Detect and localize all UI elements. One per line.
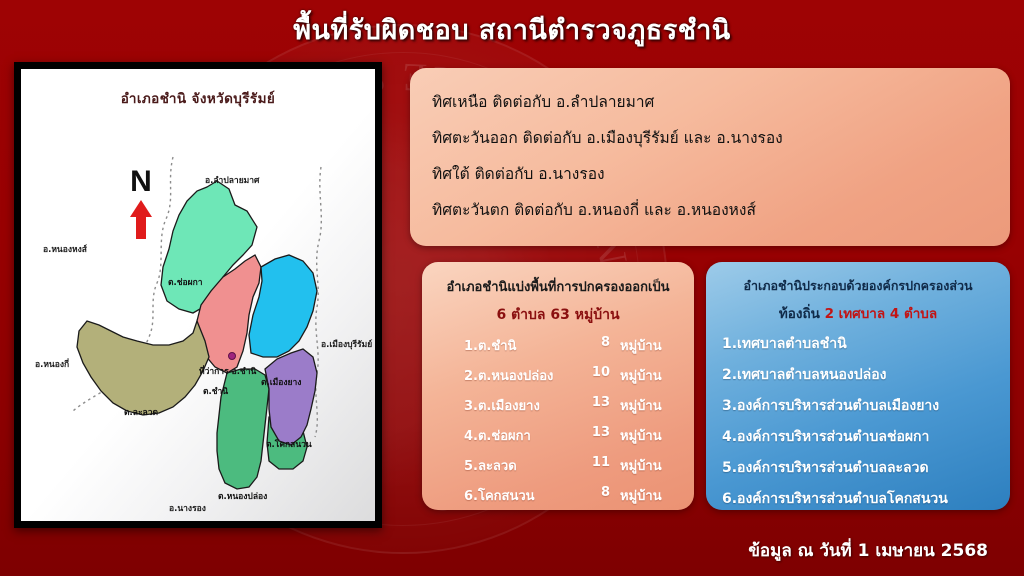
map-canvas: อำเภอชำนิ จังหวัดบุรีรัมย์ N [21,69,375,521]
tambon-row-count: 8 [584,335,610,356]
tambon-summary-card: อำเภอชำนิแบ่งพื้นที่การปกครองออกเป็น 6 ต… [422,262,694,510]
map-label-nongphlong: ต.หนองปล่อง [218,489,267,503]
map-label-neighbor-nongki: อ.หนองกี่ [35,357,69,371]
tambon-row: 4.ต.ช่อผกา 13 หมู่บ้าน [422,425,694,446]
tambon-row: 1.ต.ชำนิ 8 หมู่บ้าน [422,335,694,356]
org-card-header-line1: อำเภอชำนิประกอบด้วยองค์กรปกครองส่วน [706,276,1010,296]
map-label-neighbor-nonghong: อ.หนองหงส์ [43,242,87,256]
district-capital-marker-icon [228,352,236,360]
tambon-row-name: 4.ต.ช่อผกา [464,425,584,446]
tambon-row-unit: หมู่บ้าน [610,425,662,446]
org-row: 2.เทศบาลตำบลหนองปล่อง [706,364,1010,386]
tambon-row-name: 5.ละลวด [464,455,584,476]
region-lalaut [77,321,209,415]
tambon-row-name: 3.ต.เมืองยาง [464,395,584,416]
org-row: 1.เทศบาลตำบลชำนิ [706,333,1010,355]
page-title: พื้นที่รับผิดชอบ สถานีตำรวจภูธรชำนิ [293,8,730,51]
direction-line-south: ทิศใต้ ติดต่อกับ อ.นางรอง [432,156,1010,192]
directions-card: ทิศเหนือ ติดต่อกับ อ.ลำปลายมาศ ทิศตะวันอ… [410,68,1010,246]
direction-line-east: ทิศตะวันออก ติดต่อกับ อ.เมืองบุรีรัมย์ แ… [432,120,1010,156]
tambon-row-unit: หมู่บ้าน [610,485,662,506]
org-card-header-local: ท้องถิ่น [779,306,820,322]
tambon-row-name: 1.ต.ชำนิ [464,335,584,356]
map-label-lalaut: ต.ละลวด [124,405,158,419]
map-label-khoksanuan: ต.โคกสนวน [266,437,312,451]
tambon-row: 3.ต.เมืองยาง 13 หมู่บ้าน [422,395,694,416]
tambon-row-unit: หมู่บ้าน [610,455,662,476]
tambon-row-name: 2.ต.หนองปล่อง [464,365,584,386]
tambon-row: 6.โคกสนวน 8 หมู่บ้าน [422,485,694,506]
tambon-row-count: 13 [584,395,610,416]
boundary-dotted-east [315,167,321,437]
org-card-header-line2: ท้องถิ่น 2 เทศบาล 4 ตำบล [706,302,1010,324]
org-card-header-counts: 2 เทศบาล 4 ตำบล [825,306,938,322]
org-row: 4.องค์การบริหารส่วนตำบลช่อผกา [706,426,1010,448]
org-row: 5.องค์การบริหารส่วนตำบลละลวด [706,457,1010,479]
tambon-row-count: 13 [584,425,610,446]
tambon-row: 2.ต.หนองปล่อง 10 หมู่บ้าน [422,365,694,386]
tambon-row-name: 6.โคกสนวน [464,485,584,506]
tambon-row-unit: หมู่บ้าน [610,335,662,356]
map-label-neighbor-nangrong: อ.นางรอง [169,501,206,515]
tambon-row: 5.ละลวด 11 หมู่บ้าน [422,455,694,476]
org-row: 6.องค์การบริหารส่วนตำบลโคกสนวน [706,488,1010,510]
org-row: 3.องค์การบริหารส่วนตำบลเมืองยาง [706,395,1010,417]
local-government-card: อำเภอชำนิประกอบด้วยองค์กรปกครองส่วน ท้อง… [706,262,1010,510]
map-label-neighbor-lamplaimat: อ.ลำปลายมาศ [205,173,259,187]
map-label-chophaka: ต.ช่อผกา [168,275,203,289]
map-label-chamni: ต.ชำนิ [203,384,228,398]
map-label-neighbor-mueangburiram: อ.เมืองบุรีรัมย์ [321,337,372,351]
map-label-mueangyang: ต.เมืองยาง [261,375,301,389]
tambon-row-count: 10 [584,365,610,386]
region-khoksanuan [265,349,317,445]
slide-root: CHAMNI PROVINCIAL POLICE STATION สถานี พ… [0,0,1024,576]
tambon-row-unit: หมู่บ้าน [610,365,662,386]
map-label-district-capital: ที่ว่าการ อ.ชำนิ [199,364,256,378]
tambon-row-unit: หมู่บ้าน [610,395,662,416]
direction-line-north: ทิศเหนือ ติดต่อกับ อ.ลำปลายมาศ [432,84,1010,120]
map-panel: อำเภอชำนิ จังหวัดบุรีรัมย์ N [14,62,382,528]
tambon-card-header-line2: 6 ตำบล 63 หมู่บ้าน [422,304,694,326]
tambon-row-count: 11 [584,455,610,476]
tambon-card-header-line1: อำเภอชำนิแบ่งพื้นที่การปกครองออกเป็น [422,276,694,297]
map-regions-svg [21,69,375,521]
data-as-of-date: ข้อมูล ณ วันที่ 1 เมษายน 2568 [748,537,988,564]
direction-line-west: ทิศตะวันตก ติดต่อกับ อ.หนองกี่ และ อ.หนอ… [432,192,1010,228]
slide-title-bar: พื้นที่รับผิดชอบ สถานีตำรวจภูธรชำนิ [0,6,1024,52]
tambon-row-count: 8 [584,485,610,506]
